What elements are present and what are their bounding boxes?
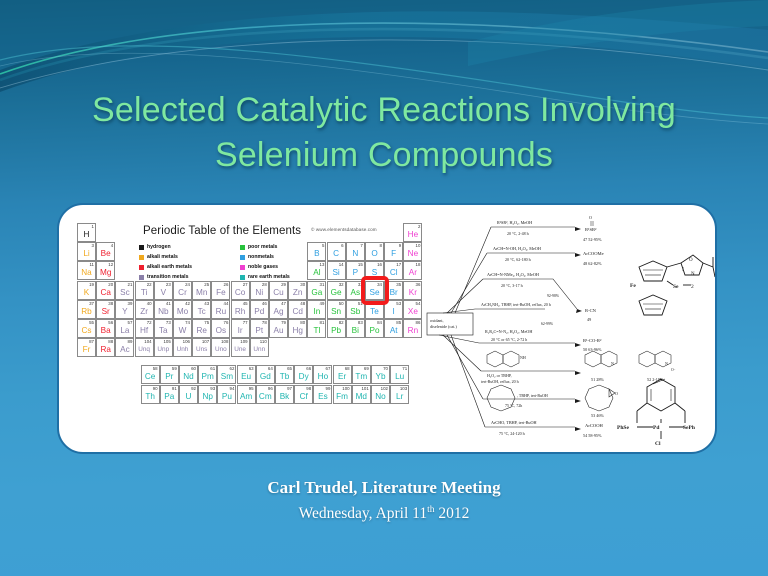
legend-swatch-icon <box>139 275 144 280</box>
rx7-yield: 53 46% <box>591 413 604 418</box>
element-symbol: Nb <box>155 306 172 318</box>
element-cell-fr[interactable]: 87Fr <box>77 338 96 357</box>
element-cell-p[interactable]: 15P <box>346 261 365 280</box>
element-cell-fm[interactable]: 100Fm <box>333 385 352 404</box>
element-symbol: Cl <box>385 267 402 279</box>
element-cell-ti[interactable]: 22Ti <box>135 281 154 300</box>
catalyst-box-line-2: diselenide (cat.) <box>430 324 457 329</box>
element-cell-y[interactable]: 39Y <box>115 300 134 319</box>
element-cell-ag[interactable]: 47Ag <box>269 300 288 319</box>
element-symbol: Tb <box>276 371 293 383</box>
structure-se-subscript: 2 <box>691 284 694 290</box>
element-cell-mg[interactable]: 12Mg <box>96 261 115 280</box>
element-symbol: Ra <box>97 344 114 356</box>
element-symbol: Ce <box>142 371 159 383</box>
element-cell-ir[interactable]: 77Ir <box>231 319 250 338</box>
element-symbol: Sm <box>218 371 235 383</box>
element-cell-cf[interactable]: 98Cf <box>294 385 313 404</box>
element-symbol: P <box>347 267 364 279</box>
rx3-conditions-top: ArCH=N-NMe₂, H₂O₂, MeOH <box>487 272 539 278</box>
rx8-yield: 54 58-95% <box>583 433 602 438</box>
element-symbol: Rh <box>232 306 249 318</box>
rx5-conditions-bottom: 20 °C or 65 °C, 2-72 h <box>491 337 527 343</box>
element-symbol: Sb <box>347 306 364 318</box>
element-cell-nd[interactable]: 60Nd <box>179 365 198 384</box>
element-cell-sm[interactable]: 62Sm <box>217 365 236 384</box>
element-symbol: Re <box>193 325 210 337</box>
date-prefix: Wednesday, April 11 <box>299 505 427 522</box>
element-cell-li[interactable]: 3Li <box>77 242 96 261</box>
element-symbol: C <box>328 248 345 260</box>
element-cell-uns[interactable]: 107Uns <box>192 338 211 357</box>
element-cell-hf[interactable]: 72Hf <box>135 319 154 338</box>
legend-label: nonmetals <box>248 254 274 260</box>
element-cell-er[interactable]: 68Er <box>333 365 352 384</box>
structure-seph-right: SePh <box>683 425 695 431</box>
element-cell-mo[interactable]: 42Mo <box>173 300 192 319</box>
element-symbol: Ba <box>97 325 114 337</box>
element-cell-uno[interactable]: 108Uno <box>211 338 230 357</box>
element-cell-zn[interactable]: 30Zn <box>288 281 307 300</box>
element-cell-in[interactable]: 49In <box>307 300 326 319</box>
element-cell-ba[interactable]: 56Ba <box>96 319 115 338</box>
element-cell-pb[interactable]: 82Pb <box>327 319 346 338</box>
element-symbol: Dy <box>295 371 312 383</box>
legend-label: poor metals <box>248 244 277 250</box>
rx2-conditions-top: ArCH=N-OH, H₂O₂, MeOH <box>493 246 541 252</box>
structure-n-label: N <box>691 272 695 277</box>
structure-pd-label: Pd <box>653 425 659 431</box>
element-cell-w[interactable]: 74W <box>173 319 192 338</box>
element-symbol: W <box>174 325 191 337</box>
title-line-1: Selected Catalytic Reactions Involving <box>0 88 768 133</box>
element-cell-as[interactable]: 33As <box>346 281 365 300</box>
element-symbol: Fr <box>78 344 95 356</box>
element-symbol: Er <box>334 371 351 383</box>
element-symbol: Cm <box>257 391 274 403</box>
structure-o-label: O <box>689 258 693 263</box>
element-cell-si[interactable]: 14Si <box>327 261 346 280</box>
legend-swatch-icon <box>240 245 245 250</box>
element-symbol: Pm <box>199 371 216 383</box>
rx6-n-label-b: N <box>665 361 668 366</box>
rx7-conditions-top: , TBHP, tert-BuOH <box>517 393 548 399</box>
rx1-conditions-bottom: 20 °C, 2-48 h <box>507 231 529 237</box>
element-cell-cr[interactable]: 24Cr <box>173 281 192 300</box>
element-symbol: Ho <box>314 371 331 383</box>
rx2-yield: 48 62-82% <box>583 261 602 266</box>
element-cell-ne[interactable]: 10Ne <box>403 242 422 261</box>
element-cell-lu[interactable]: 71Lu <box>390 365 409 384</box>
periodic-table: Periodic Table of the Elements © www.ele… <box>71 211 421 451</box>
element-symbol: Ga <box>308 287 325 299</box>
element-symbol: Si <box>328 267 345 279</box>
element-cell-tm[interactable]: 69Tm <box>352 365 371 384</box>
element-symbol: Cd <box>289 306 306 318</box>
element-cell-al[interactable]: 13Al <box>307 261 326 280</box>
element-cell-dy[interactable]: 66Dy <box>294 365 313 384</box>
element-cell-np[interactable]: 93Np <box>198 385 217 404</box>
element-symbol: Yb <box>372 371 389 383</box>
element-cell-sc[interactable]: 21Sc <box>115 281 134 300</box>
element-cell-na[interactable]: 11Na <box>77 261 96 280</box>
rx5-product: R¹-CO-R² <box>583 338 602 343</box>
element-symbol: H <box>78 229 95 241</box>
element-symbol: Pr <box>161 371 178 383</box>
rx1-product: R¹SR² <box>585 227 597 232</box>
element-symbol: Pb <box>328 325 345 337</box>
element-symbol: Ca <box>97 287 114 299</box>
element-symbol: Np <box>199 391 216 403</box>
element-symbol: Fm <box>334 391 351 403</box>
rx1-conditions-top: R¹SR², H₂O₂, MeOH <box>497 220 532 226</box>
element-symbol: Ta <box>155 325 172 337</box>
element-symbol: V <box>155 287 172 299</box>
element-symbol: He <box>404 229 421 241</box>
element-cell-rn[interactable]: 86Rn <box>403 319 422 338</box>
content-card: Periodic Table of the Elements © www.ele… <box>57 203 717 454</box>
rx3-product: R-CN <box>585 308 597 313</box>
element-symbol: Zr <box>136 306 153 318</box>
element-symbol: Co <box>232 287 249 299</box>
rx1-product-o: O <box>589 215 592 220</box>
element-cell-cl[interactable]: 17Cl <box>384 261 403 280</box>
legend-label: alkali metals <box>147 254 178 260</box>
element-symbol: Ne <box>404 248 421 260</box>
legend-item: alkali earth metals <box>139 262 230 272</box>
rx8-product: ArCOOH <box>585 423 604 428</box>
element-cell-ta[interactable]: 73Ta <box>154 319 173 338</box>
element-cell-pd[interactable]: 46Pd <box>250 300 269 319</box>
element-cell-am[interactable]: 95Am <box>237 385 256 404</box>
element-cell-pm[interactable]: 61Pm <box>198 365 217 384</box>
element-cell-lr[interactable]: 103Lr <box>390 385 409 404</box>
element-symbol: Bk <box>276 391 293 403</box>
element-symbol: Es <box>314 391 331 403</box>
element-cell-au[interactable]: 79Au <box>269 319 288 338</box>
element-symbol: Uno <box>212 344 229 356</box>
element-symbol: Unh <box>174 344 191 356</box>
rx6-oxide-label: O⁻ <box>671 368 676 372</box>
element-cell-xe[interactable]: 54Xe <box>403 300 422 319</box>
rx6-nh-label: NH <box>520 355 526 360</box>
title-line-2: Selenium Compounds <box>0 133 768 178</box>
element-cell-sb[interactable]: 51Sb <box>346 300 365 319</box>
element-cell-la[interactable]: 57La <box>115 319 134 338</box>
element-cell-zr[interactable]: 40Zr <box>135 300 154 319</box>
element-cell-pa[interactable]: 91Pa <box>160 385 179 404</box>
element-symbol: Sn <box>328 306 345 318</box>
element-symbol: Pu <box>218 391 235 403</box>
rx5-conditions-top: R₁R₂C=N-N₂, H₂O₂, MeOH <box>485 329 532 335</box>
element-symbol: Au <box>270 325 287 337</box>
element-symbol: Te <box>366 306 383 318</box>
element-cell-bi[interactable]: 83Bi <box>346 319 365 338</box>
element-symbol: Cs <box>78 325 95 337</box>
element-cell-kr[interactable]: 36Kr <box>403 281 422 300</box>
element-cell-o[interactable]: 8O <box>365 242 384 261</box>
rx8-conditions-top: ArCHO, TBHP, tert-BuOH <box>491 420 537 426</box>
element-cell-be[interactable]: 4Be <box>96 242 115 261</box>
element-symbol: Gd <box>257 371 274 383</box>
element-symbol: Ac <box>116 344 133 356</box>
element-symbol: Pt <box>251 325 268 337</box>
legend-label: transition metals <box>147 274 189 280</box>
element-symbol: Hf <box>136 325 153 337</box>
element-symbol: Am <box>238 391 255 403</box>
element-symbol: Nd <box>180 371 197 383</box>
element-symbol: Pd <box>251 306 268 318</box>
legend-swatch-icon <box>139 245 144 250</box>
element-symbol: Kr <box>404 287 421 299</box>
element-symbol: Ar <box>404 267 421 279</box>
element-cell-unh[interactable]: 106Unh <box>173 338 192 357</box>
element-symbol: At <box>385 325 402 337</box>
legend-swatch-icon <box>240 255 245 260</box>
element-cell-no[interactable]: 102No <box>371 385 390 404</box>
element-symbol: Tl <box>308 325 325 337</box>
rx3-branch-yield-bottom: 62-99% <box>541 322 554 326</box>
element-cell-at[interactable]: 85At <box>384 319 403 338</box>
structure-cl-label: Cl <box>655 441 661 447</box>
element-cell-pt[interactable]: 78Pt <box>250 319 269 338</box>
element-cell-mn[interactable]: 25Mn <box>192 281 211 300</box>
element-symbol: Fe <box>212 287 229 299</box>
element-cell-cm[interactable]: 96Cm <box>256 385 275 404</box>
element-cell-es[interactable]: 99Es <box>313 385 332 404</box>
periodic-table-credit: © www.elementsdatabase.com <box>311 227 377 232</box>
element-cell-pu[interactable]: 94Pu <box>217 385 236 404</box>
element-symbol: B <box>308 248 325 260</box>
element-cell-une[interactable]: 109Une <box>231 338 250 357</box>
element-cell-ar[interactable]: 18Ar <box>403 261 422 280</box>
legend-item: hydrogen <box>139 242 230 252</box>
element-symbol: Sc <box>116 287 133 299</box>
rx6-yield-a: 51 28% <box>591 377 604 382</box>
element-cell-k[interactable]: 19K <box>77 281 96 300</box>
legend-label: alkali earth metals <box>147 264 192 270</box>
element-cell-hg[interactable]: 80Hg <box>288 319 307 338</box>
element-symbol: Uns <box>193 344 210 356</box>
element-symbol: K <box>78 287 95 299</box>
element-symbol: Y <box>116 306 133 318</box>
element-cell-ru[interactable]: 44Ru <box>211 300 230 319</box>
presentation-slide: Selected Catalytic Reactions Involving S… <box>0 0 768 576</box>
presenter-line: Carl Trudel, Literature Meeting <box>0 476 768 499</box>
legend-swatch-icon <box>139 255 144 260</box>
element-symbol: In <box>308 306 325 318</box>
element-symbol: Ge <box>328 287 345 299</box>
element-symbol: Eu <box>238 371 255 383</box>
element-symbol: Une <box>232 344 249 356</box>
element-cell-b[interactable]: 5B <box>307 242 326 261</box>
element-cell-po[interactable]: 84Po <box>365 319 384 338</box>
pincer-palladium-structure <box>637 379 685 439</box>
element-cell-os[interactable]: 76Os <box>211 319 230 338</box>
element-cell-u[interactable]: 92U <box>179 385 198 404</box>
element-cell-ho[interactable]: 67Ho <box>313 365 332 384</box>
legend-swatch-icon <box>240 265 245 270</box>
structure-phse-left: PhSe <box>617 425 629 431</box>
legend-swatch-icon <box>240 275 245 280</box>
legend-label: noble gases <box>248 264 278 270</box>
element-symbol: F <box>385 248 402 260</box>
element-symbol: Hg <box>289 325 306 337</box>
element-symbol: Rb <box>78 306 95 318</box>
element-symbol: Li <box>78 248 95 260</box>
legend-item: alkali metals <box>139 252 230 262</box>
rx8-conditions-bottom: 75 °C, 24-120 h <box>499 431 525 437</box>
element-cell-cd[interactable]: 48Cd <box>288 300 307 319</box>
element-cell-f[interactable]: 9F <box>384 242 403 261</box>
rx3-yield: 49 <box>587 317 591 322</box>
element-cell-ac[interactable]: 89Ac <box>115 338 134 357</box>
element-symbol: Br <box>385 287 402 299</box>
element-symbol: Unn <box>251 344 268 356</box>
element-symbol: La <box>116 325 133 337</box>
element-symbol: As <box>347 287 364 299</box>
element-cell-te[interactable]: 52Te <box>365 300 384 319</box>
element-cell-bk[interactable]: 97Bk <box>275 385 294 404</box>
element-cell-unp[interactable]: 105Unp <box>154 338 173 357</box>
element-symbol: Cf <box>295 391 312 403</box>
rx2-conditions-bottom: 20 °C, 62-180 h <box>505 257 531 263</box>
element-cell-tc[interactable]: 43Tc <box>192 300 211 319</box>
rx6-n-label-a: N <box>611 361 614 366</box>
element-symbol: Mn <box>193 287 210 299</box>
element-symbol: Rn <box>404 325 421 337</box>
legend-label: rare earth metals <box>248 274 290 280</box>
element-cell-tl[interactable]: 81Tl <box>307 319 326 338</box>
element-cell-fe[interactable]: 26Fe <box>211 281 230 300</box>
element-cell-se[interactable]: 34Se <box>365 281 384 300</box>
element-symbol: Unq <box>136 344 153 356</box>
date-line: Wednesday, April 11th 2012 <box>0 499 768 525</box>
element-symbol: Bi <box>347 325 364 337</box>
element-cell-h[interactable]: 1H <box>77 223 96 242</box>
element-symbol: S <box>366 267 383 279</box>
element-cell-unn[interactable]: 110Unn <box>250 338 269 357</box>
element-symbol: Lr <box>391 391 408 403</box>
element-cell-th[interactable]: 90Th <box>141 385 160 404</box>
periodic-table-title: Periodic Table of the Elements <box>143 225 301 237</box>
element-cell-v[interactable]: 23V <box>154 281 173 300</box>
date-suffix: 2012 <box>434 505 469 522</box>
element-cell-tb[interactable]: 65Tb <box>275 365 294 384</box>
element-symbol: Ru <box>212 306 229 318</box>
element-symbol: Th <box>142 391 159 403</box>
element-symbol: Mo <box>174 306 191 318</box>
element-cell-sr[interactable]: 38Sr <box>96 300 115 319</box>
element-cell-co[interactable]: 27Co <box>231 281 250 300</box>
rx1-yield: 47 52-95% <box>583 237 602 242</box>
element-symbol: Xe <box>404 306 421 318</box>
element-symbol: Lu <box>391 371 408 383</box>
element-symbol: Unp <box>155 344 172 356</box>
element-cell-ge[interactable]: 32Ge <box>327 281 346 300</box>
element-cell-s[interactable]: 16S <box>365 261 384 280</box>
element-cell-unq[interactable]: 104Unq <box>135 338 154 357</box>
legend-label: hydrogen <box>147 244 171 250</box>
page-title: Selected Catalytic Reactions Involving S… <box>0 88 768 178</box>
element-symbol: Md <box>353 391 370 403</box>
element-cell-re[interactable]: 75Re <box>192 319 211 338</box>
element-cell-br[interactable]: 35Br <box>384 281 403 300</box>
element-symbol: Se <box>366 287 383 299</box>
element-cell-he[interactable]: 2He <box>403 223 422 242</box>
slide-footer: Carl Trudel, Literature Meeting Wednesda… <box>0 476 768 525</box>
element-cell-cs[interactable]: 55Cs <box>77 319 96 338</box>
element-cell-ce[interactable]: 58Ce <box>141 365 160 384</box>
reaction-scheme: oxidant, diselenide (cat.) R¹SR², H₂O₂, … <box>425 205 717 454</box>
element-symbol: O <box>366 248 383 260</box>
element-symbol: Mg <box>97 267 114 279</box>
element-symbol: No <box>372 391 389 403</box>
element-cell-yb[interactable]: 70Yb <box>371 365 390 384</box>
structure-fe-label: Fe <box>630 283 636 289</box>
element-symbol: Po <box>366 325 383 337</box>
element-cell-rb[interactable]: 37Rb <box>77 300 96 319</box>
element-cell-nb[interactable]: 41Nb <box>154 300 173 319</box>
element-symbol: U <box>180 391 197 403</box>
element-cell-i[interactable]: 53I <box>384 300 403 319</box>
element-cell-c[interactable]: 6C <box>327 242 346 261</box>
element-cell-ni[interactable]: 28Ni <box>250 281 269 300</box>
element-symbol: N <box>347 248 364 260</box>
element-symbol: Be <box>97 248 114 260</box>
element-symbol: Zn <box>289 287 306 299</box>
element-symbol: Pa <box>161 391 178 403</box>
element-cell-eu[interactable]: 63Eu <box>237 365 256 384</box>
element-symbol: Tm <box>353 371 370 383</box>
element-symbol: Tc <box>193 306 210 318</box>
element-cell-rh[interactable]: 45Rh <box>231 300 250 319</box>
rx3-branch-yield-top: 92-98% <box>547 294 560 298</box>
periodic-table-legend: hydrogenpoor metalsalkali metalsnonmetal… <box>139 242 331 282</box>
element-symbol: Ag <box>270 306 287 318</box>
element-symbol: Ni <box>251 287 268 299</box>
element-symbol: Cu <box>270 287 287 299</box>
structure-se-label: Se <box>673 284 679 290</box>
rx2-product: ArCOOMe <box>583 251 604 256</box>
element-cell-pr[interactable]: 59Pr <box>160 365 179 384</box>
element-cell-n[interactable]: 7N <box>346 242 365 261</box>
element-symbol: Ti <box>136 287 153 299</box>
element-cell-sn[interactable]: 50Sn <box>327 300 346 319</box>
element-cell-ra[interactable]: 88Ra <box>96 338 115 357</box>
element-symbol: Al <box>308 267 325 279</box>
rx7-epoxide-o: O <box>615 391 618 396</box>
element-symbol: Sr <box>97 306 114 318</box>
element-cell-gd[interactable]: 64Gd <box>256 365 275 384</box>
rx6-conditions-bottom: tert-BuOH, reflux, 20 h <box>481 379 519 385</box>
element-cell-ca[interactable]: 20Ca <box>96 281 115 300</box>
element-symbol: Na <box>78 267 95 279</box>
element-symbol: Os <box>212 325 229 337</box>
element-cell-ga[interactable]: 31Ga <box>307 281 326 300</box>
element-cell-md[interactable]: 101Md <box>352 385 371 404</box>
legend-swatch-icon <box>139 265 144 270</box>
element-symbol: Cr <box>174 287 191 299</box>
rx4-conditions-top: ArCH₂NH₂, TBHP, tert-BuOH, reflux, 20 h <box>481 302 551 308</box>
element-symbol: I <box>385 306 402 318</box>
element-symbol: Ir <box>232 325 249 337</box>
rx3-conditions-bottom: 20 °C, 3-17 h <box>501 283 523 289</box>
element-cell-cu[interactable]: 29Cu <box>269 281 288 300</box>
